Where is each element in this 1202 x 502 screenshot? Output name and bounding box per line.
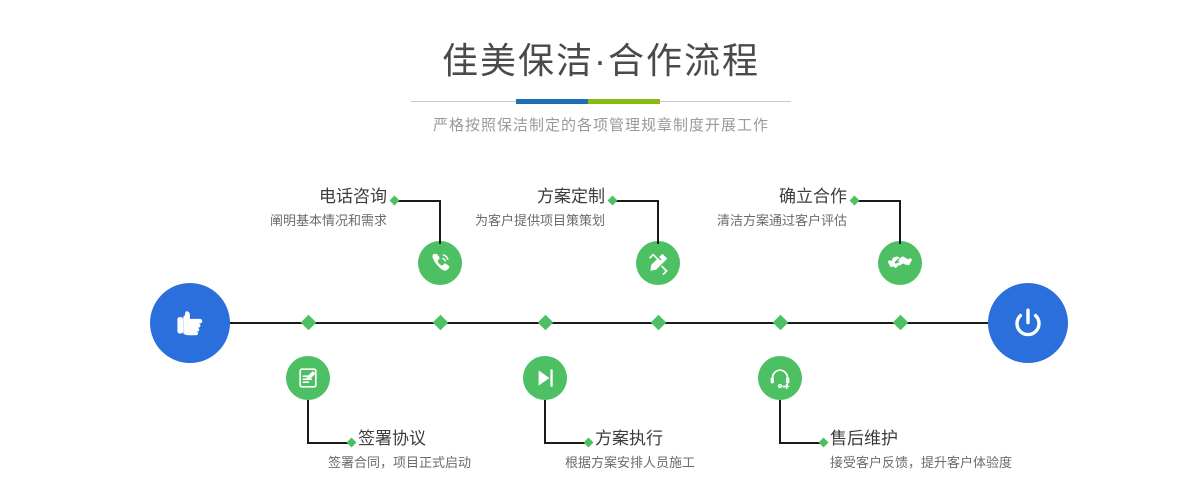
node-step-4 [523, 356, 567, 400]
handshake-icon [887, 250, 913, 276]
phone-call-icon [427, 250, 453, 276]
label-title-step-6: 售后维护 [830, 428, 1080, 450]
axis-diamond-3 [651, 315, 667, 331]
label-title-step-3: 方案定制 [448, 186, 605, 208]
label-title-step-1: 电话咨询 [245, 186, 387, 208]
connector-arm-1 [395, 200, 440, 202]
axis-diamond-6 [773, 315, 789, 331]
customer-support-icon [767, 365, 793, 391]
connector-tick-6 [819, 438, 829, 448]
pencil-ruler-icon [645, 250, 671, 276]
connector-arm-6 [779, 442, 824, 444]
connector-stem-3 [657, 200, 659, 244]
label-desc-step-5: 清洁方案通过客户评估 [690, 211, 847, 231]
timeline: 电话咨询 阐明基本情况和需求 签署协议 签署合同，项目正式启动 [0, 0, 1202, 502]
axis-diamond-5 [893, 315, 909, 331]
label-title-step-5: 确立合作 [690, 186, 847, 208]
label-desc-step-6: 接受客户反馈，提升客户体验度 [830, 453, 1080, 473]
power-button-icon [1007, 302, 1049, 344]
process-flow-infographic: 佳美保洁·合作流程 严格按照保洁制定的各项管理规章制度开展工作 [0, 0, 1202, 502]
axis-diamond-1 [433, 315, 449, 331]
connector-stem-6 [779, 400, 781, 444]
connector-stem-1 [439, 200, 441, 244]
connector-tick-3 [608, 196, 618, 206]
label-step-6: 售后维护 接受客户反馈，提升客户体验度 [830, 428, 1080, 473]
label-desc-step-4: 根据方案安排人员施工 [565, 453, 810, 473]
pointing-hand-icon [169, 302, 211, 344]
document-edit-icon [295, 365, 321, 391]
axis-diamond-2 [301, 315, 317, 331]
play-execute-icon [532, 365, 558, 391]
label-step-3: 方案定制 为客户提供项目策策划 [448, 186, 605, 231]
label-step-4: 方案执行 根据方案安排人员施工 [595, 428, 810, 473]
node-step-6 [758, 356, 802, 400]
label-step-1: 电话咨询 阐明基本情况和需求 [245, 186, 387, 231]
node-step-5 [878, 241, 922, 285]
connector-stem-2 [307, 400, 309, 444]
connector-tick-2 [347, 438, 357, 448]
label-desc-step-3: 为客户提供项目策策划 [448, 211, 605, 231]
node-step-2 [286, 356, 330, 400]
connector-arm-5 [855, 200, 900, 202]
node-step-1 [418, 241, 462, 285]
label-title-step-4: 方案执行 [595, 428, 810, 450]
connector-stem-4 [544, 400, 546, 444]
timeline-start-marker [150, 283, 230, 363]
timeline-end-marker [988, 283, 1068, 363]
timeline-axis [150, 322, 1050, 324]
axis-diamond-4 [538, 315, 554, 331]
label-desc-step-1: 阐明基本情况和需求 [245, 211, 387, 231]
connector-arm-4 [544, 442, 589, 444]
connector-arm-3 [613, 200, 658, 202]
connector-tick-1 [390, 196, 400, 206]
connector-tick-4 [584, 438, 594, 448]
connector-tick-5 [850, 196, 860, 206]
label-desc-step-2: 签署合同，项目正式启动 [328, 453, 578, 473]
connector-arm-2 [307, 442, 352, 444]
connector-stem-5 [899, 200, 901, 244]
label-step-5: 确立合作 清洁方案通过客户评估 [690, 186, 847, 231]
node-step-3 [636, 241, 680, 285]
